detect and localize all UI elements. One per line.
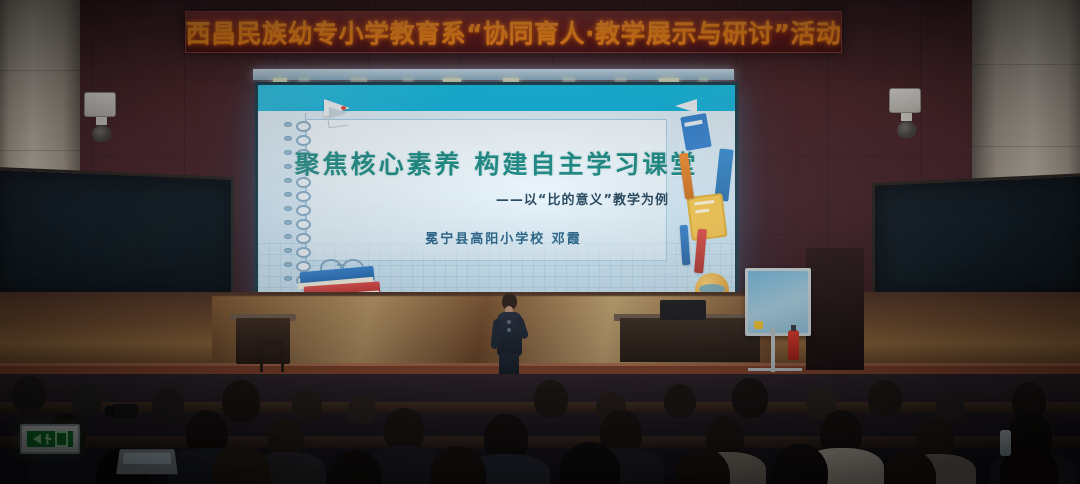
auditorium-photo: 西昌民族幼专小学教育系“协同育人·教学展示与研讨”活动 [0,0,1080,484]
photo-vignette [0,0,1080,484]
